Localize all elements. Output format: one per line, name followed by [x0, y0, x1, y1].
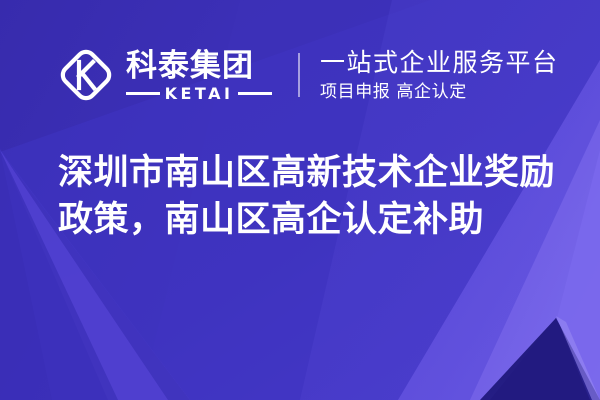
logo-wordmark: 科泰集团 KETAI [126, 49, 272, 102]
tagline-main: 一站式企业服务平台 [320, 48, 559, 78]
tagline-sub: 项目申报 高企认定 [320, 81, 559, 103]
company-name-en: KETAI [160, 85, 239, 102]
headline-line-2: 政策，南山区高企认定补助 [58, 197, 558, 244]
promo-banner: 科泰集团 KETAI 一站式企业服务平台 项目申报 高企认定 深圳市南山区高新技… [0, 0, 600, 400]
ketai-diamond-k-icon [56, 45, 116, 105]
wordmark-rule-left [126, 92, 160, 95]
wordmark-rule-right [238, 92, 272, 95]
company-name-cn: 科泰集团 [126, 49, 272, 83]
headline-line-1: 深圳市南山区高新技术企业奖励 [58, 150, 558, 197]
vertical-divider-icon [298, 53, 300, 97]
company-name-en-row: KETAI [126, 85, 272, 102]
banner-header: 科泰集团 KETAI 一站式企业服务平台 项目申报 高企认定 [56, 38, 559, 112]
headline: 深圳市南山区高新技术企业奖励 政策，南山区高企认定补助 [58, 150, 558, 244]
tagline-block: 一站式企业服务平台 项目申报 高企认定 [320, 48, 559, 103]
